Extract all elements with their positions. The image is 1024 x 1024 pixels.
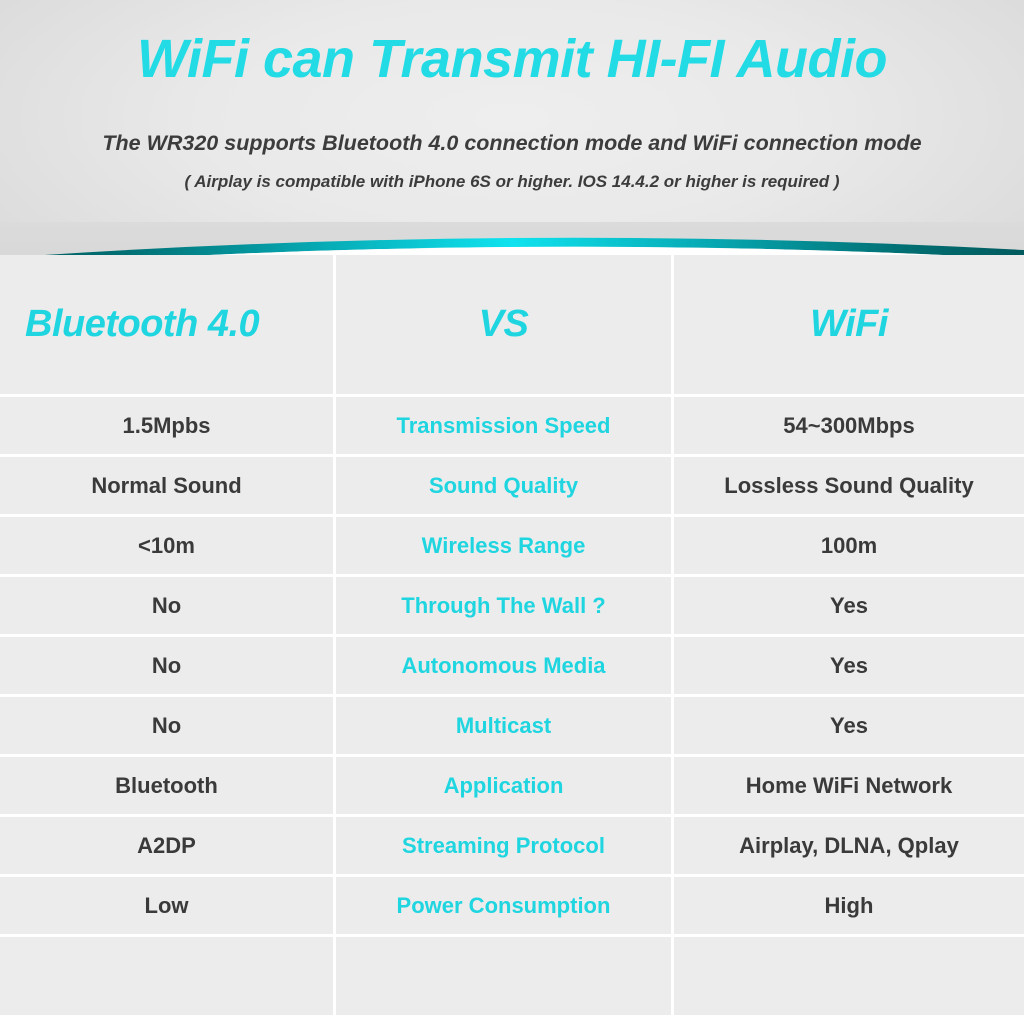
hero-subtitle: The WR320 supports Bluetooth 4.0 connect… bbox=[0, 128, 1024, 158]
table-row: A2DP Streaming Protocol Airplay, DLNA, Q… bbox=[0, 817, 1024, 877]
cell-bluetooth-value: Bluetooth bbox=[0, 757, 336, 817]
cell-bluetooth-value bbox=[0, 937, 336, 1015]
cell-wifi-value: Home WiFi Network bbox=[674, 757, 1024, 817]
table-row: No Through The Wall ? Yes bbox=[0, 577, 1024, 637]
table-row: Bluetooth Application Home WiFi Network bbox=[0, 757, 1024, 817]
cell-feature-label: Through The Wall ? bbox=[336, 577, 674, 637]
cell-bluetooth-value: Low bbox=[0, 877, 336, 937]
table-row: <10m Wireless Range 100m bbox=[0, 517, 1024, 577]
comparison-table: Bluetooth 4.0 VS WiFi 1.5Mpbs Transmissi… bbox=[0, 255, 1024, 1024]
table-row-empty bbox=[0, 937, 1024, 1015]
cell-wifi-value: 54~300Mbps bbox=[674, 397, 1024, 457]
cell-wifi-value: Yes bbox=[674, 697, 1024, 757]
hero-banner: WiFi can Transmit HI-FI Audio The WR320 … bbox=[0, 0, 1024, 262]
cell-wifi-value: Yes bbox=[674, 637, 1024, 697]
cell-bluetooth-value: A2DP bbox=[0, 817, 336, 877]
cell-feature-label: Transmission Speed bbox=[336, 397, 674, 457]
cell-wifi-value: Yes bbox=[674, 577, 1024, 637]
cell-wifi-value: Lossless Sound Quality bbox=[674, 457, 1024, 517]
cell-bluetooth-value: <10m bbox=[0, 517, 336, 577]
column-header-vs: VS bbox=[336, 255, 674, 397]
cell-feature-label: Multicast bbox=[336, 697, 674, 757]
cell-feature-label: Application bbox=[336, 757, 674, 817]
table-row: 1.5Mpbs Transmission Speed 54~300Mbps bbox=[0, 397, 1024, 457]
table-header-row: Bluetooth 4.0 VS WiFi bbox=[0, 255, 1024, 397]
cell-wifi-value: Airplay, DLNA, Qplay bbox=[674, 817, 1024, 877]
table-row: No Multicast Yes bbox=[0, 697, 1024, 757]
cell-feature-label: Power Consumption bbox=[336, 877, 674, 937]
page-title: WiFi can Transmit HI-FI Audio bbox=[0, 27, 1024, 91]
cell-feature-label: Autonomous Media bbox=[336, 637, 674, 697]
column-header-wifi: WiFi bbox=[674, 255, 1024, 397]
cell-wifi-value: 100m bbox=[674, 517, 1024, 577]
table-row: Low Power Consumption High bbox=[0, 877, 1024, 937]
cell-bluetooth-value: No bbox=[0, 577, 336, 637]
cell-feature-label: Streaming Protocol bbox=[336, 817, 674, 877]
infographic-page: WiFi can Transmit HI-FI Audio The WR320 … bbox=[0, 0, 1024, 1024]
table-row: No Autonomous Media Yes bbox=[0, 637, 1024, 697]
hero-compatibility-note: ( Airplay is compatible with iPhone 6S o… bbox=[0, 169, 1024, 195]
cell-feature-label bbox=[336, 937, 674, 1015]
cell-bluetooth-value: Normal Sound bbox=[0, 457, 336, 517]
column-header-bluetooth: Bluetooth 4.0 bbox=[0, 255, 336, 397]
cell-bluetooth-value: 1.5Mpbs bbox=[0, 397, 336, 457]
cell-bluetooth-value: No bbox=[0, 637, 336, 697]
table-row: Normal Sound Sound Quality Lossless Soun… bbox=[0, 457, 1024, 517]
cell-bluetooth-value: No bbox=[0, 697, 336, 757]
cell-feature-label: Wireless Range bbox=[336, 517, 674, 577]
cell-wifi-value: High bbox=[674, 877, 1024, 937]
cell-wifi-value bbox=[674, 937, 1024, 1015]
cell-feature-label: Sound Quality bbox=[336, 457, 674, 517]
